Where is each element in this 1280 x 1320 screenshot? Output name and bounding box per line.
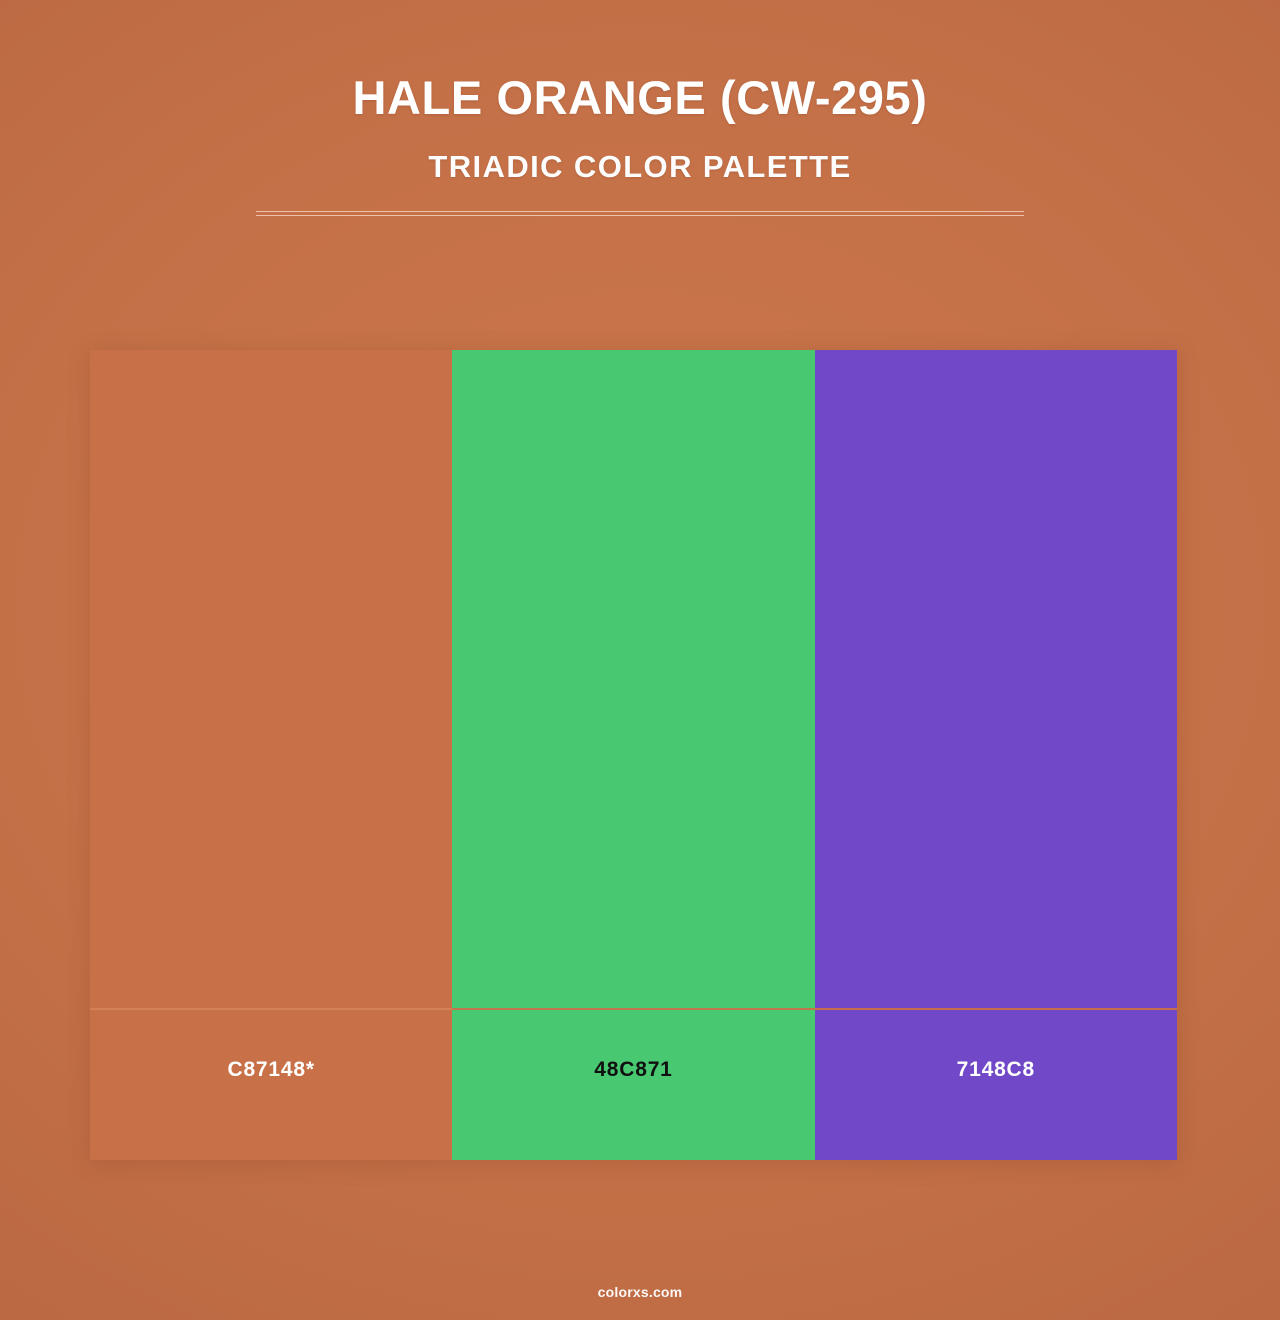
color-swatch-tertiary[interactable]	[815, 350, 1177, 1008]
page-title: HALE ORANGE (CW-295)	[0, 72, 1280, 125]
color-swatch-primary[interactable]	[90, 350, 452, 1008]
color-hex-label-tertiary: 7148C8	[957, 1058, 1035, 1082]
title-divider	[256, 211, 1024, 216]
site-brand-label: colorxs.com	[598, 1284, 683, 1300]
color-label-area-primary: C87148*	[90, 1008, 452, 1160]
page-subtitle: TRIADIC COLOR PALETTE	[0, 149, 1280, 185]
color-label-area-secondary: 48C871	[452, 1008, 814, 1160]
color-hex-label-secondary: 48C871	[594, 1058, 672, 1082]
palette-page: HALE ORANGE (CW-295) TRIADIC COLOR PALET…	[0, 0, 1280, 1320]
color-hex-label-primary: C87148*	[227, 1058, 314, 1082]
page-header: HALE ORANGE (CW-295) TRIADIC COLOR PALET…	[0, 0, 1280, 216]
color-label-area-tertiary: 7148C8	[815, 1008, 1177, 1160]
page-footer: colorxs.com	[0, 1284, 1280, 1302]
swatch-column-primary[interactable]: C87148*	[90, 350, 452, 1160]
swatch-column-tertiary[interactable]: 7148C8	[815, 350, 1177, 1160]
color-palette-card: C87148* 48C871 7148C8	[90, 350, 1177, 1160]
swatch-column-secondary[interactable]: 48C871	[452, 350, 814, 1160]
color-swatch-secondary[interactable]	[452, 350, 814, 1008]
